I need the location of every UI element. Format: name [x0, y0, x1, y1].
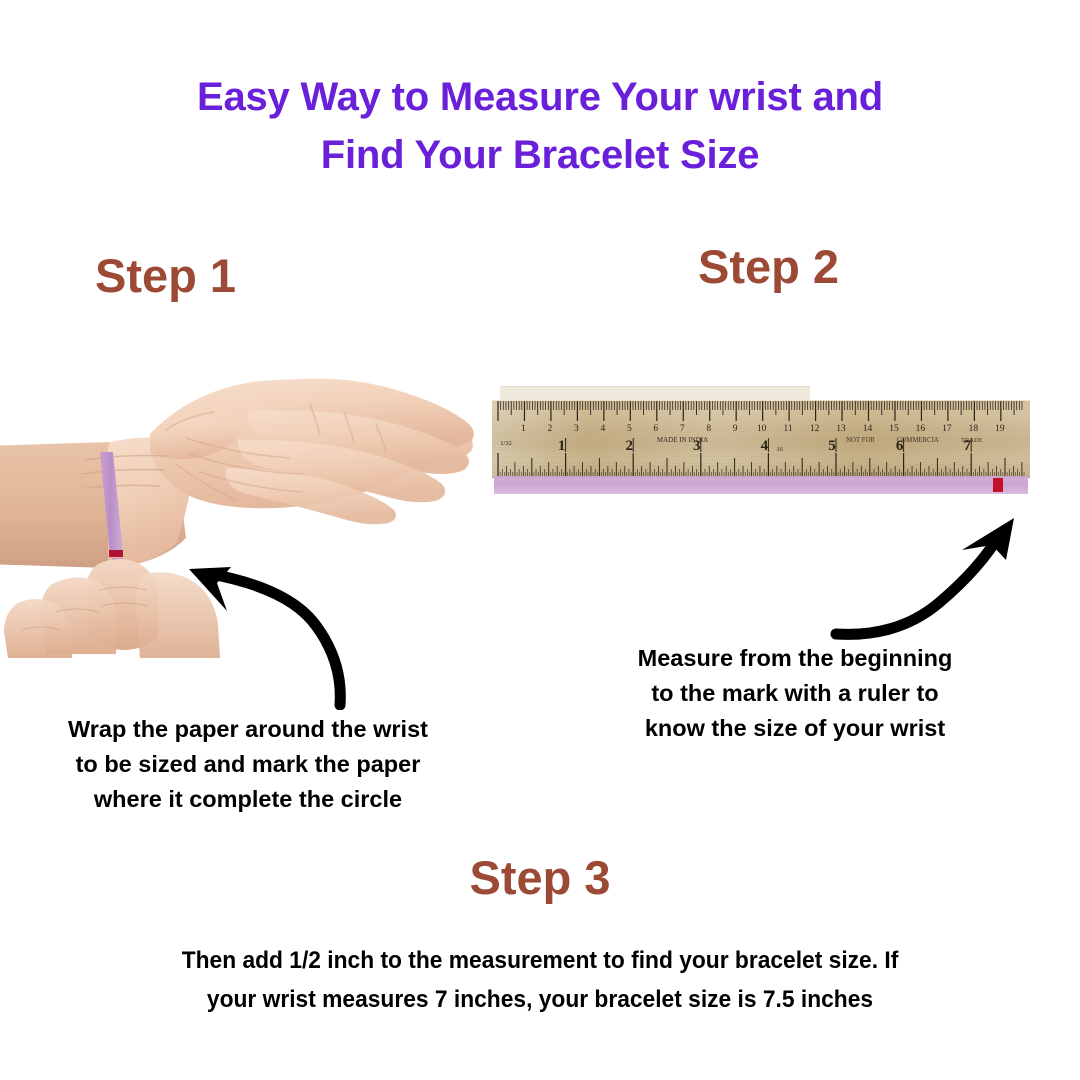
svg-text:9: 9	[733, 424, 738, 434]
svg-text:15: 15	[889, 424, 899, 434]
svg-text:2: 2	[548, 424, 553, 434]
ruler-body: 1234567891011121314151617181912345671/32…	[492, 400, 1030, 478]
page-title: Easy Way to Measure Your wrist and Find …	[0, 68, 1080, 184]
svg-text:1: 1	[558, 438, 566, 454]
svg-text:18: 18	[969, 424, 979, 434]
step-3-caption-line-2: your wrist measures 7 inches, your brace…	[207, 986, 873, 1013]
svg-text:NOT FOR: NOT FOR	[846, 437, 875, 444]
svg-text:2: 2	[625, 438, 633, 454]
svg-text:4: 4	[761, 438, 769, 454]
svg-text:8: 8	[706, 424, 711, 434]
svg-text:7: 7	[680, 424, 685, 434]
curved-arrow-left-icon	[175, 555, 375, 710]
arrow-to-wrist-mark	[175, 555, 375, 710]
step-3-caption: Then add 1/2 inch to the measurement to …	[38, 941, 1042, 1019]
step-1-heading: Step 1	[95, 252, 236, 299]
svg-text:14: 14	[863, 424, 873, 434]
ruler-scale-marks: 1234567891011121314151617181912345671/32…	[492, 400, 1030, 478]
step-2-heading: Step 2	[698, 243, 839, 290]
svg-text:5: 5	[627, 424, 632, 434]
svg-text:10: 10	[757, 424, 767, 434]
step-1-caption-line-2: to be sized and mark the paper	[76, 751, 421, 777]
step-1-caption-line-1: Wrap the paper around the wrist	[68, 716, 428, 742]
ruler-photo: 1234567891011121314151617181912345671/32…	[492, 386, 1030, 496]
svg-text:5: 5	[828, 438, 836, 454]
svg-text:13: 13	[836, 424, 846, 434]
svg-text:17: 17	[942, 424, 952, 434]
paper-strip-red-mark	[993, 478, 1003, 492]
step-2-caption: Measure from the beginning to the mark w…	[565, 641, 1025, 746]
svg-text:16: 16	[916, 424, 926, 434]
curved-arrow-right-icon	[828, 508, 1028, 653]
svg-text:MADE IN INDIA: MADE IN INDIA	[657, 436, 708, 444]
step-3-heading: Step 3	[0, 854, 1080, 901]
step-1-caption: Wrap the paper around the wrist to be si…	[8, 712, 488, 817]
svg-text:1: 1	[521, 424, 526, 434]
page-title-line-2: Find Your Bracelet Size	[0, 126, 1080, 184]
measured-paper-strip	[494, 476, 1028, 494]
svg-text:COMMERCIA: COMMERCIA	[897, 437, 939, 444]
svg-text:11: 11	[784, 424, 793, 434]
step-2-caption-line-1: Measure from the beginning	[638, 645, 953, 671]
svg-text:19: 19	[995, 424, 1005, 434]
svg-text:1/32: 1/32	[500, 440, 512, 447]
step-3-caption-line-1: Then add 1/2 inch to the measurement to …	[182, 947, 899, 974]
infographic-canvas: Easy Way to Measure Your wrist and Find …	[0, 0, 1080, 1080]
step-1-caption-line-3: where it complete the circle	[94, 786, 402, 812]
step-2-caption-line-3: know the size of your wrist	[645, 715, 945, 741]
svg-text:TRADE: TRADE	[961, 437, 983, 444]
arrow-to-ruler-mark	[828, 508, 1028, 653]
svg-text:4: 4	[600, 424, 605, 434]
page-title-line-1: Easy Way to Measure Your wrist and	[0, 68, 1080, 126]
step-2-caption-line-2: to the mark with a ruler to	[651, 680, 938, 706]
svg-text:16: 16	[776, 446, 783, 453]
paper-mark-red	[109, 550, 123, 557]
svg-text:12: 12	[810, 424, 820, 434]
svg-text:6: 6	[653, 424, 658, 434]
svg-text:3: 3	[574, 424, 579, 434]
